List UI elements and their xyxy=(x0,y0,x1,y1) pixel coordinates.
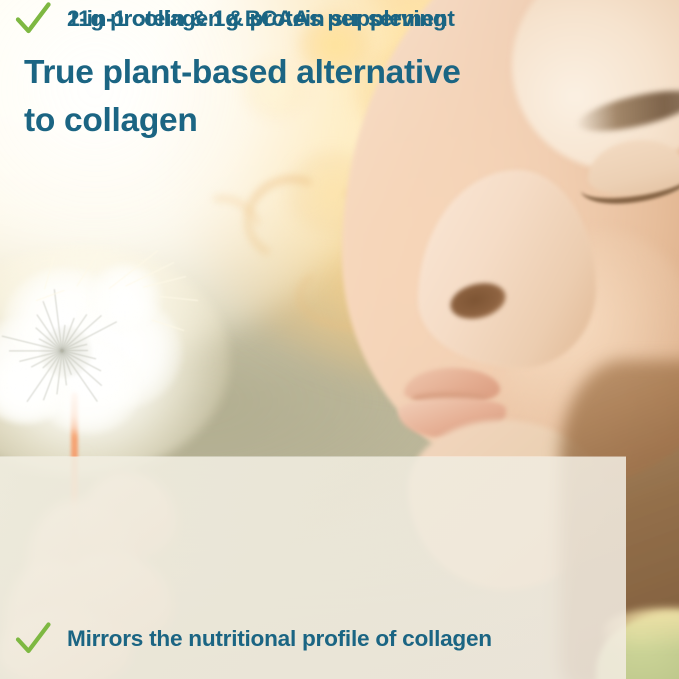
benefit-label: Mirrors the nutritional profile of colla… xyxy=(67,626,492,652)
benefit-item: Mirrors the nutritional profile of colla… xyxy=(14,620,614,658)
headline: True plant-based alternative to collagen xyxy=(24,49,584,144)
product-benefit-card: True plant-based alternative to collagen… xyxy=(0,0,679,679)
headline-line-2: to collagen xyxy=(24,97,584,145)
seed-ray xyxy=(9,350,62,351)
benefit-label: 11g protein & 1g BCAAs per serving xyxy=(67,6,446,32)
headline-line-1: True plant-based alternative xyxy=(24,49,584,97)
check-icon xyxy=(14,620,52,658)
check-icon xyxy=(14,0,52,38)
benefit-item: 11g protein & 1g BCAAs per serving xyxy=(14,0,614,38)
